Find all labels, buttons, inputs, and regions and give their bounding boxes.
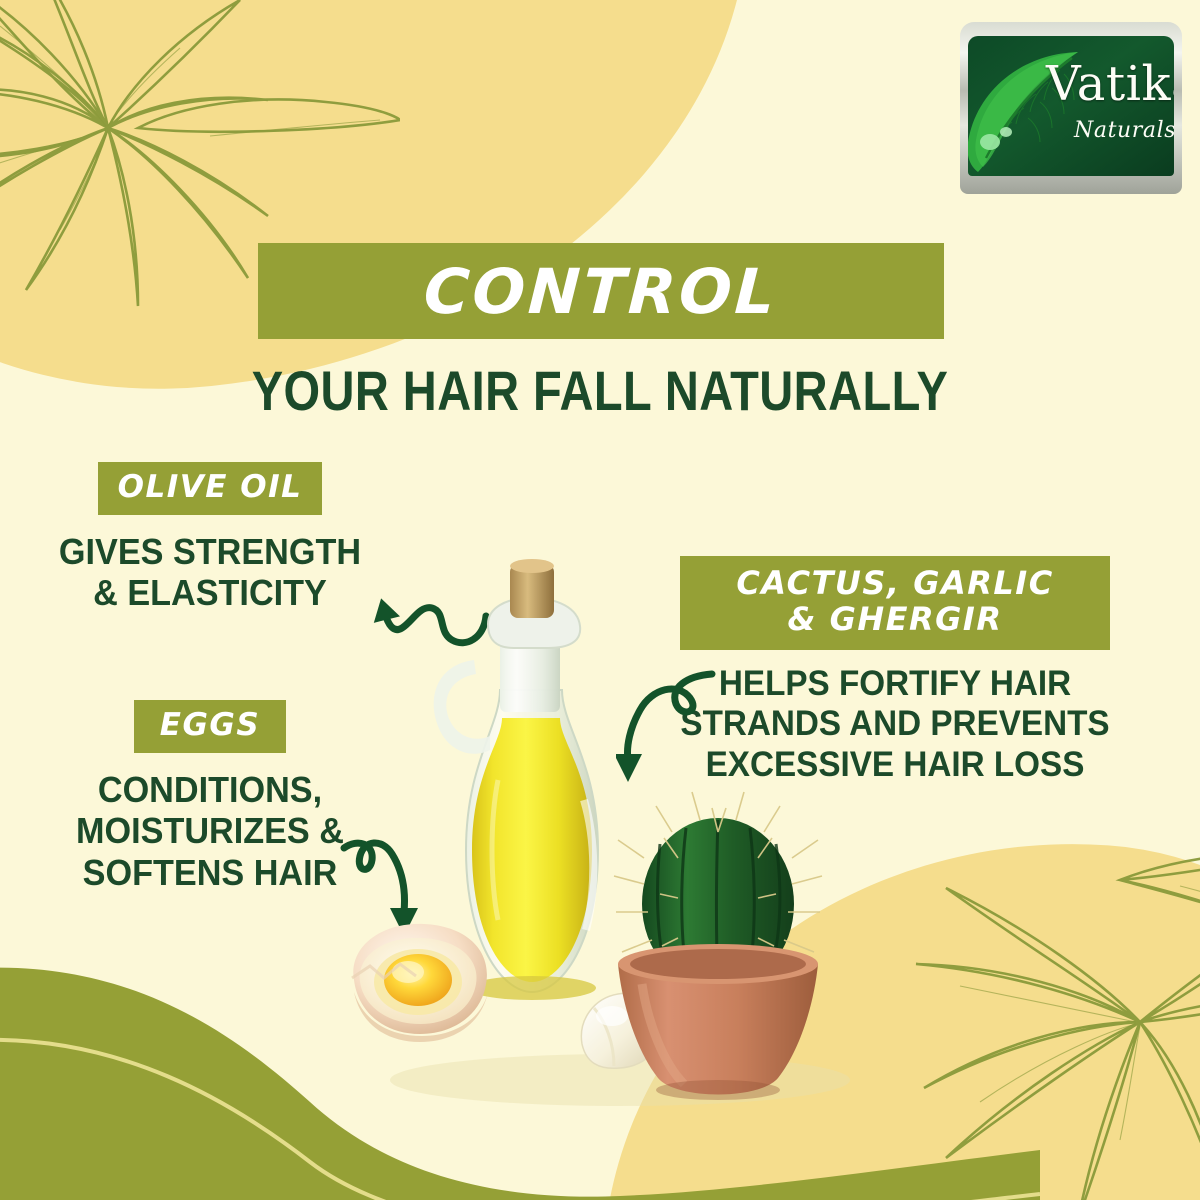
feature-olive-oil-badge: OLIVE OIL [98, 462, 323, 515]
logo-wordmark: Vatika [1046, 60, 1174, 108]
headline-subtitle: YOUR HAIR FALL NATURALLY [96, 358, 1104, 423]
headline-banner: CONTROL [258, 243, 944, 339]
cracked-egg-image [352, 924, 488, 1042]
logo-tagline: Naturals [1074, 118, 1174, 143]
poster-canvas: Vatika Naturals CONTROL YOUR HAIR FALL N… [0, 0, 1200, 1200]
headline-banner-text: CONTROL [422, 255, 779, 328]
logo-panel: Vatika Naturals [968, 36, 1174, 176]
potted-cactus-image [614, 792, 822, 1100]
feature-eggs-badge: EGGS [134, 700, 286, 753]
brand-logo: Vatika Naturals [960, 22, 1182, 194]
product-image-cluster [330, 540, 890, 1120]
